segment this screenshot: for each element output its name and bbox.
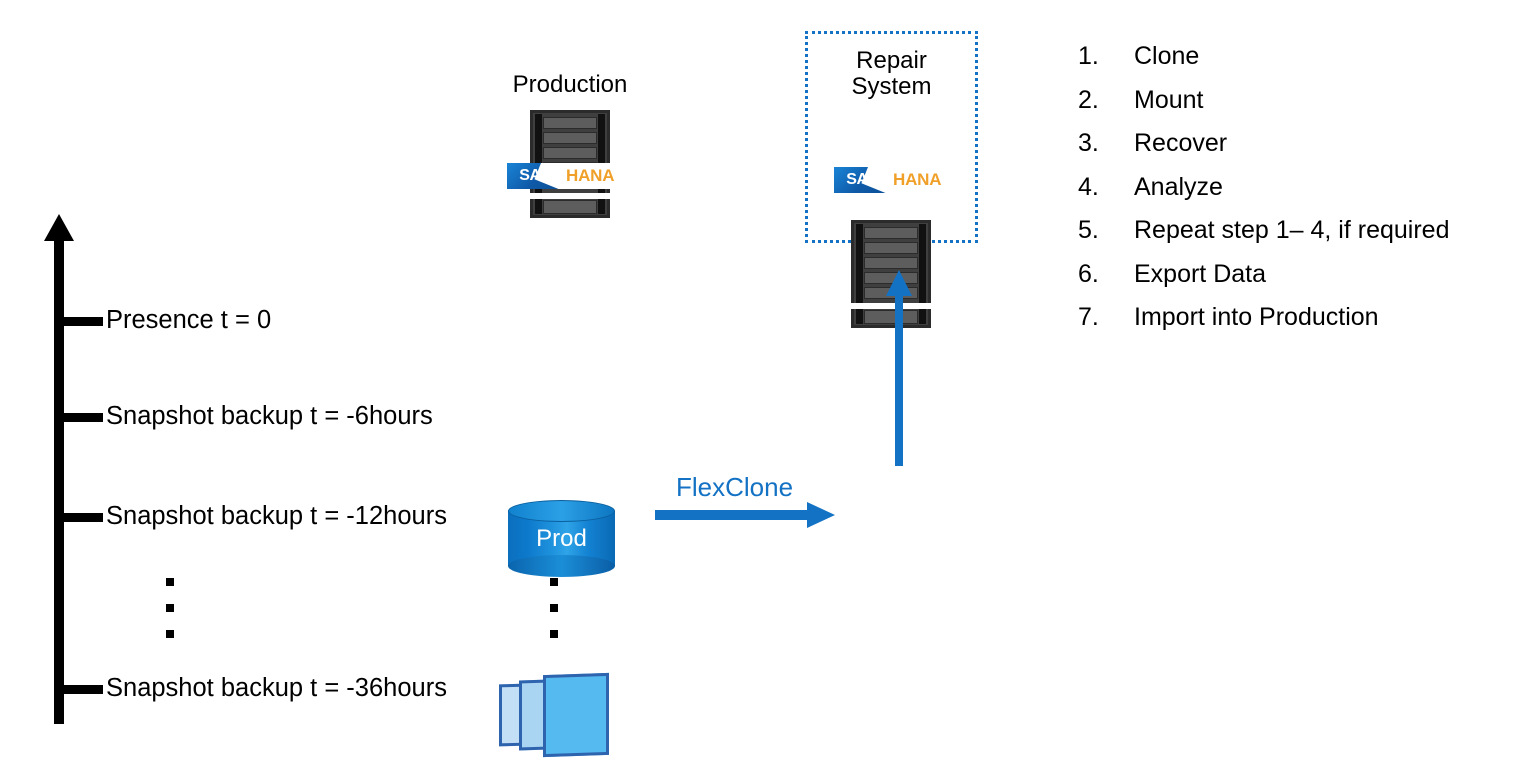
step-label: Export Data bbox=[1134, 262, 1518, 287]
time-axis bbox=[44, 214, 74, 724]
timeline-label-presence: Presence t = 0 bbox=[106, 308, 271, 334]
step-number: 2. bbox=[1078, 88, 1134, 113]
time-tick-3 bbox=[62, 685, 103, 694]
step-number: 4. bbox=[1078, 175, 1134, 200]
step-label: Import into Production bbox=[1134, 305, 1518, 330]
repair-sap-hana-logo: SAP HANA bbox=[834, 167, 954, 193]
time-tick-1 bbox=[62, 413, 103, 422]
step-item-6: 6. Export Data bbox=[1078, 262, 1518, 287]
step-label: Mount bbox=[1134, 88, 1518, 113]
sap-logo-text: SAP bbox=[846, 171, 877, 189]
production-database-cylinder: Prod bbox=[508, 500, 615, 577]
production-sap-hana-logo: SAP HANA bbox=[507, 163, 627, 189]
flexclone-label: FlexClone bbox=[676, 472, 793, 503]
hana-logo-text: HANA bbox=[563, 163, 614, 189]
step-item-1: 1. Clone bbox=[1078, 44, 1518, 69]
flexclone-arrow bbox=[655, 502, 835, 528]
timeline-ellipsis-labels bbox=[166, 578, 174, 638]
steps-list: 1. Clone 2. Mount 3. Recover 4. Analyze … bbox=[1078, 44, 1518, 349]
timeline-ellipsis-icons bbox=[550, 578, 558, 638]
step-label: Clone bbox=[1134, 44, 1518, 69]
step-item-2: 2. Mount bbox=[1078, 88, 1518, 113]
snapshot-stack-6h bbox=[499, 674, 609, 756]
time-tick-0 bbox=[62, 317, 103, 326]
repair-system-title: Repair System bbox=[810, 48, 973, 100]
step-label: Analyze bbox=[1134, 175, 1518, 200]
step-number: 5. bbox=[1078, 218, 1134, 243]
diagram-canvas: Presence t = 0 Snapshot backup t = -6hou… bbox=[0, 0, 1528, 763]
step-item-7: 7. Import into Production bbox=[1078, 305, 1518, 330]
step-item-4: 4. Analyze bbox=[1078, 175, 1518, 200]
mount-arrow bbox=[880, 270, 918, 466]
sap-logo-icon: SAP bbox=[507, 163, 563, 189]
sap-logo-text: SAP bbox=[519, 167, 550, 185]
step-number: 1. bbox=[1078, 44, 1134, 69]
step-label: Recover bbox=[1134, 131, 1518, 156]
step-number: 6. bbox=[1078, 262, 1134, 287]
step-number: 7. bbox=[1078, 305, 1134, 330]
production-title: Production bbox=[488, 72, 652, 98]
step-item-3: 3. Recover bbox=[1078, 131, 1518, 156]
production-database-label: Prod bbox=[508, 525, 615, 553]
timeline-label-snapshot-6h: Snapshot backup t = -6hours bbox=[106, 404, 433, 430]
sap-logo-icon: SAP bbox=[834, 167, 890, 193]
hana-logo-text: HANA bbox=[890, 167, 941, 193]
timeline-label-snapshot-12h: Snapshot backup t = -12hours bbox=[106, 504, 447, 530]
step-label: Repeat step 1– 4, if required bbox=[1134, 218, 1518, 243]
timeline-label-snapshot-36h: Snapshot backup t = -36hours bbox=[106, 676, 447, 702]
step-item-5: 5. Repeat step 1– 4, if required bbox=[1078, 218, 1518, 243]
step-number: 3. bbox=[1078, 131, 1134, 156]
time-tick-2 bbox=[62, 513, 103, 522]
